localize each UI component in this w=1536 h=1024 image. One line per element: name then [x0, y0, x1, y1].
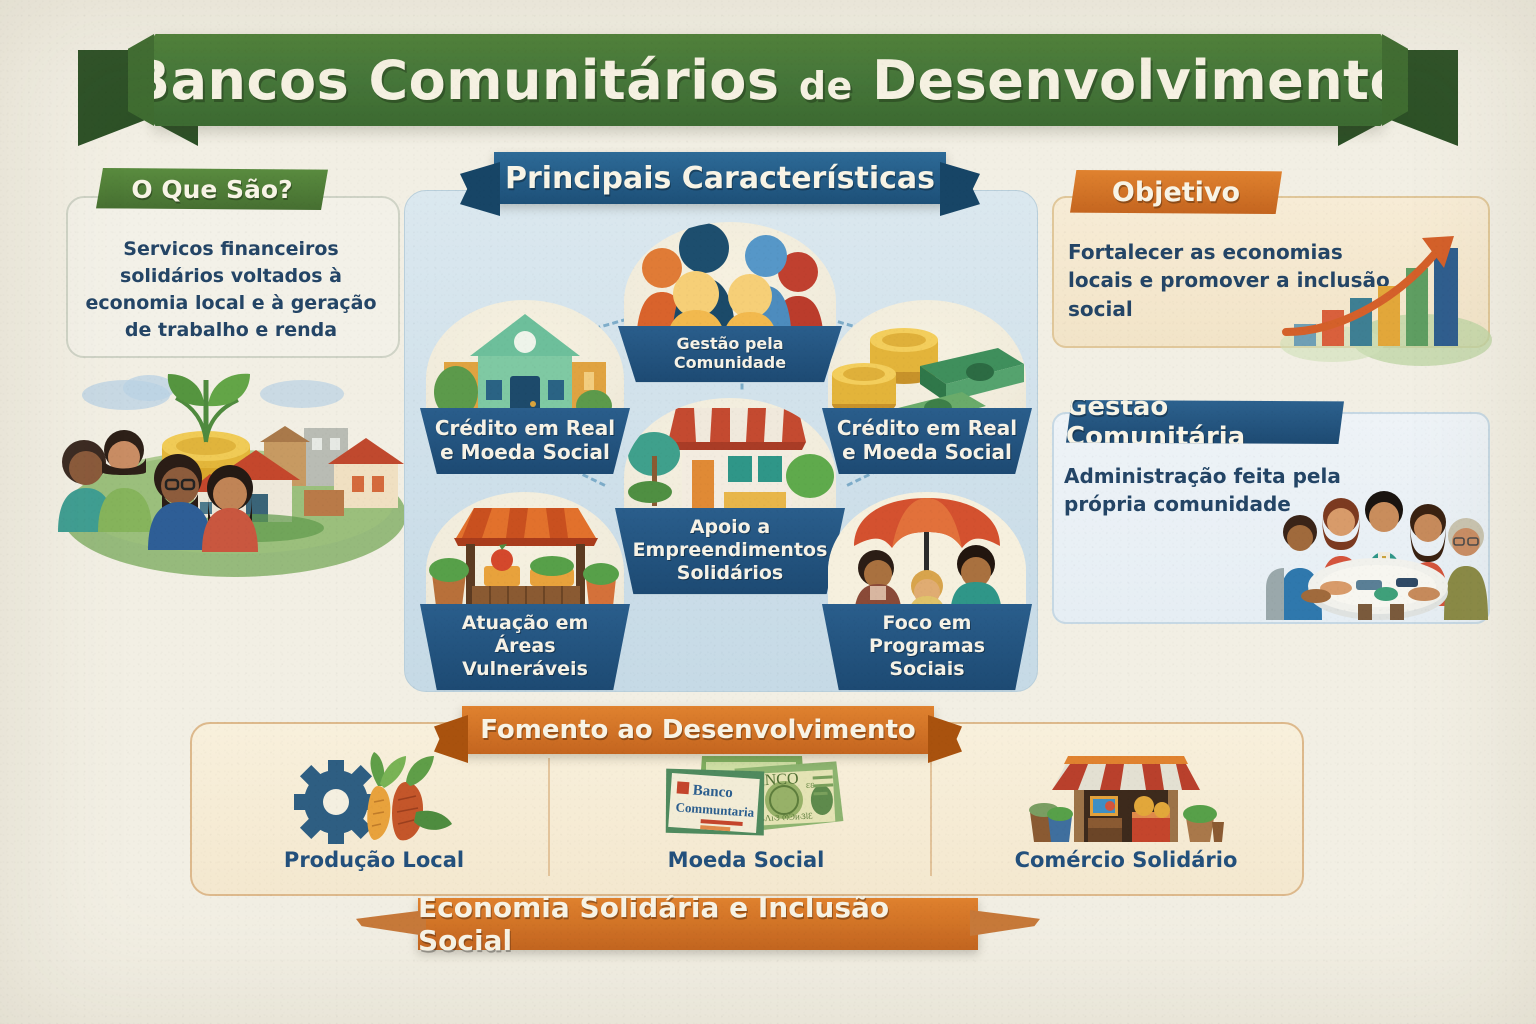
bottom-item-label: Comércio Solidário: [960, 848, 1292, 872]
node-label: Crédito em Real e Moeda Social: [822, 408, 1032, 474]
node-label-text: Apoio a Empreendimentos Solidários: [633, 516, 828, 584]
community-banknotes-icon: ɅNCO ɛɛ ıи૮ઽΛı૩ ოϿᴎ૩ƖƐ Banco Communtaria: [646, 750, 846, 842]
family-umbrella-icon: [828, 492, 1026, 620]
title-part-1: Bancos Comunitários: [129, 49, 780, 112]
people-round-table-meeting-illustration: [1238, 470, 1488, 620]
bottom-divider: [548, 758, 550, 876]
title-part-de: de: [799, 64, 853, 108]
shop-awning-icon: [1026, 750, 1226, 842]
bottom-item-comercio-solidario[interactable]: Comércio Solidário: [960, 744, 1292, 882]
node-label-text: Atuação em Áreas Vulneráveis: [462, 612, 589, 680]
node-label-text: Foco em Programas Sociais: [869, 612, 985, 680]
fomento-tag: Fomento ao Desenvolvimento: [462, 706, 934, 754]
page-title: Bancos Comunitários de Desenvolvimento: [129, 49, 1407, 112]
node-credito-real-esquerda[interactable]: Crédito em Real e Moeda Social: [426, 300, 624, 468]
o-que-sao-text: Servicos financeiros solidários voltados…: [72, 236, 390, 344]
gestao-comunitaria-tag: Gestão Comunitária: [1066, 400, 1344, 444]
title-ribbon: Bancos Comunitários de Desenvolvimento: [150, 34, 1386, 126]
market-stall-icon: [426, 492, 624, 620]
node-label-text: Crédito em Real e Moeda Social: [435, 416, 615, 464]
node-label: Foco em Programas Sociais: [822, 604, 1032, 690]
node-label: Crédito em Real e Moeda Social: [420, 408, 630, 474]
o-que-sao-tag: O Que São?: [96, 168, 328, 210]
node-apoio-empreendimentos[interactable]: Apoio a Empreendimentos Solidários: [624, 398, 836, 574]
node-gestao-comunidade[interactable]: Gestão pela Comunidade: [624, 222, 836, 382]
node-label-text: Crédito em Real e Moeda Social: [837, 416, 1017, 464]
node-credito-real-direita[interactable]: Crédito em Real e Moeda Social: [828, 300, 1026, 468]
bottom-item-moeda-social[interactable]: ɅNCO ɛɛ ıи૮ઽΛı૩ ოϿᴎ૩ƖƐ Banco Communtaria…: [580, 744, 912, 882]
bottom-divider: [930, 758, 932, 876]
node-atuacao-areas-vulneraveis[interactable]: Atuação em Áreas Vulneráveis: [426, 492, 624, 668]
title-banner: Bancos Comunitários de Desenvolvimento: [0, 16, 1536, 146]
node-label: Apoio a Empreendimentos Solidários: [615, 508, 845, 594]
principais-caracteristicas-tag: Principais Características: [494, 152, 946, 204]
title-part-2: Desenvolvimento: [872, 49, 1407, 112]
svg-text:Banco: Banco: [692, 783, 733, 802]
gear-and-carrots-icon: [274, 750, 474, 842]
bottom-item-label: Produção Local: [208, 848, 540, 872]
bottom-item-label: Moeda Social: [580, 848, 912, 872]
footer-tag: Economia Solidária e Inclusão Social: [418, 898, 978, 950]
community-people-coins-houses-illustration: [54, 350, 414, 620]
node-foco-programas-sociais[interactable]: Foco em Programas Sociais: [828, 492, 1026, 668]
node-label: Gestão pela Comunidade: [618, 326, 842, 382]
objetivo-tag: Objetivo: [1070, 170, 1282, 214]
node-label: Atuação em Áreas Vulneráveis: [420, 604, 630, 690]
bottom-item-producao-local[interactable]: Produção Local: [208, 744, 540, 882]
growth-bar-chart: [1272, 228, 1482, 348]
storefront-icon: [624, 398, 836, 526]
